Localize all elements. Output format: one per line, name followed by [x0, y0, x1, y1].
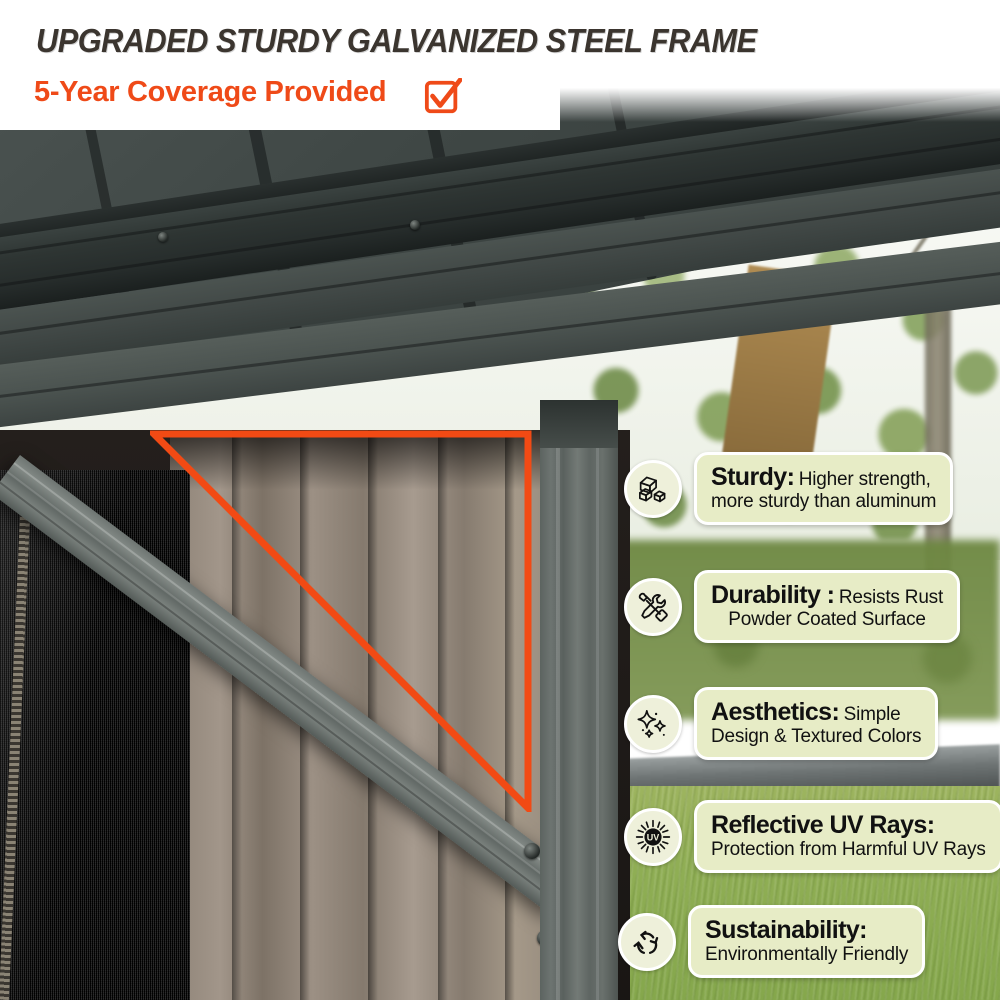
- header-banner: UPGRADED STURDY GALVANIZED STEEL FRAME 5…: [0, 0, 1000, 122]
- checkbox-checked-icon: [424, 78, 462, 116]
- feature-line-2: Design & Textured Colors: [711, 726, 921, 747]
- coverage-subtitle: 5-Year Coverage Provided: [34, 76, 386, 109]
- product-infographic: UPGRADED STURDY GALVANIZED STEEL FRAME 5…: [0, 0, 1000, 1000]
- feature-aesthetics: Aesthetics: Simple Design & Textured Col…: [624, 687, 938, 760]
- feature-line-1: Reflective UV Rays:: [711, 811, 986, 839]
- feature-title: Sustainability:: [705, 916, 867, 944]
- feature-line-1: Sustainability:: [705, 916, 908, 944]
- feature-callout-box: Sturdy: Higher strength, more sturdy tha…: [694, 452, 953, 525]
- gazebo-corner-post: [540, 400, 618, 1000]
- feature-callout-box: Aesthetics: Simple Design & Textured Col…: [694, 687, 938, 760]
- feature-title: Sturdy:: [711, 463, 794, 491]
- roof-screw: [410, 220, 420, 230]
- feature-callout-box: Sustainability: Environmentally Friendly: [688, 905, 925, 978]
- page-title: UPGRADED STURDY GALVANIZED STEEL FRAME: [36, 22, 757, 60]
- svg-text:UV: UV: [647, 832, 660, 842]
- header-white-backdrop: [0, 0, 560, 130]
- feature-title: Reflective UV Rays:: [711, 811, 934, 839]
- sparkle-icon: [624, 695, 682, 753]
- uv-sun-icon: UV: [624, 808, 682, 866]
- feature-line-1: Aesthetics: Simple: [711, 698, 921, 726]
- feature-rest: Simple: [844, 704, 901, 725]
- feature-line-1: Durability : Resists Rust: [711, 581, 943, 609]
- feature-title: Aesthetics:: [711, 698, 839, 726]
- orange-triangle-highlight: [150, 430, 532, 812]
- post-top-cap: [540, 400, 618, 448]
- steel-bars-icon: [624, 460, 682, 518]
- feature-sustainability: Sustainability: Environmentally Friendly: [618, 905, 925, 978]
- feature-callout-box: Durability : Resists Rust Powder Coated …: [694, 570, 960, 643]
- feature-callout-box: Reflective UV Rays: Protection from Harm…: [694, 800, 1000, 873]
- wrench-screwdriver-icon: [624, 578, 682, 636]
- feature-title: Durability :: [711, 581, 834, 609]
- feature-reflective-uv-rays: UV Reflective UV Rays: Protection from H…: [624, 800, 1000, 873]
- feature-line-2: Powder Coated Surface: [711, 609, 943, 630]
- feature-line-2: Protection from Harmful UV Rays: [711, 839, 986, 860]
- post-highlight: [596, 400, 599, 1000]
- post-highlight: [556, 400, 560, 1000]
- recycle-icon: [618, 913, 676, 971]
- feature-rest: Resists Rust: [839, 587, 943, 608]
- feature-durability: Durability : Resists Rust Powder Coated …: [624, 570, 960, 643]
- feature-line-2: more sturdy than aluminum: [711, 491, 936, 512]
- feature-sturdy: Sturdy: Higher strength, more sturdy tha…: [624, 452, 953, 525]
- brace-bolt: [524, 843, 540, 859]
- feature-line-1: Sturdy: Higher strength,: [711, 463, 936, 491]
- feature-line-2: Environmentally Friendly: [705, 944, 908, 965]
- feature-rest: Higher strength,: [799, 469, 931, 490]
- roof-screw: [158, 232, 168, 242]
